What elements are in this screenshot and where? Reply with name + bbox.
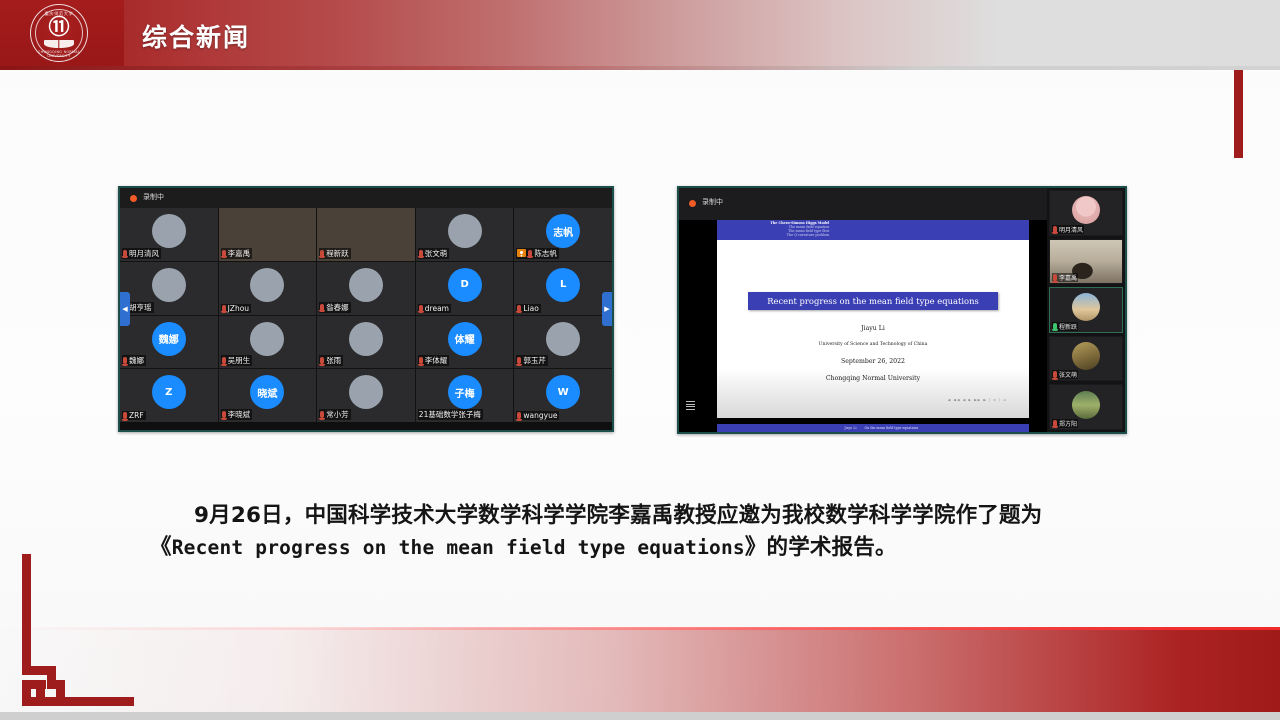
avatar — [250, 322, 284, 356]
slide-header-bar: 重庆师范大学 ⑪ CHONGQING NORMAL UNIVERSITY 综合新… — [0, 0, 1280, 66]
avatar-initials: L — [546, 268, 580, 302]
beamer-footer-title: On the mean field type equations — [861, 426, 1029, 430]
beamer-footer: Jiayu Li On the mean field type equation… — [717, 424, 1029, 432]
avatar-initials: 晓斌 — [250, 375, 284, 409]
caption-text: 9月26日，中国科学技术大学数学科学学院李嘉禹教授应邀为我校数学科学学院作了题为… — [150, 500, 1160, 564]
participant-tile[interactable]: 李嘉禹 — [219, 208, 317, 261]
caption-talk-title: Recent progress on the mean field type e… — [172, 536, 745, 559]
participant-name-text: 胡亨瑶 — [129, 302, 152, 313]
microphone-muted-icon — [222, 305, 226, 312]
beamer-nav-section-3: The Q-curvature problem — [770, 233, 829, 237]
rail-avatar — [1072, 196, 1100, 224]
participant-name-label: JZhou — [221, 304, 251, 313]
participant-name-text: 明月清风 — [129, 248, 159, 259]
rail-participant-tile[interactable]: 郑方阳 — [1049, 384, 1123, 430]
microphone-muted-icon — [517, 412, 521, 419]
participant-rail: 明月清风李嘉禹程新跃张文萌郑方阳 — [1047, 188, 1125, 432]
slide-title: Recent progress on the mean field type e… — [748, 292, 998, 310]
caption-quote-close: 》的学术报告。 — [745, 535, 897, 560]
rail-avatar — [1072, 293, 1100, 321]
participant-name-label: 明月清风 — [122, 248, 161, 259]
beamer-nav-controls[interactable]: ◀ ◀◀ ◀ ▶ ▶▶ ▶ | ≡ | ⌂ — [948, 398, 1007, 402]
microphone-muted-icon — [1053, 226, 1057, 233]
participant-name-text: 吴朋生 — [228, 355, 251, 366]
host-badge-icon — [517, 249, 526, 257]
microphone-muted-icon — [1053, 274, 1057, 281]
caption-line-1: 9月26日，中国科学技术大学数学科学学院李嘉禹教授应邀为我校数学科学学院作了题为 — [150, 500, 1160, 532]
rail-participant-name-label: 张文萌 — [1052, 370, 1078, 379]
participant-name-text: JZhou — [228, 304, 249, 313]
participant-name-text: dream — [425, 304, 449, 313]
participant-name-label: Liao — [516, 304, 540, 313]
participant-tile[interactable]: 胡亨瑶 — [120, 262, 218, 315]
caption-quote-open: 《 — [150, 535, 172, 560]
beamer-nav-sections: The Chern-Simons Higgs Model The mean fi… — [770, 221, 829, 237]
participant-name-label: 李体耀 — [418, 355, 450, 366]
avatar-initials: 体耀 — [448, 322, 482, 356]
rail-participant-name-text: 程新跃 — [1059, 322, 1077, 331]
rail-participant-name-text: 明月清风 — [1059, 225, 1083, 234]
bottom-edge-strip — [0, 712, 1280, 720]
microphone-muted-icon — [419, 250, 423, 257]
microphone-muted-icon — [222, 250, 226, 257]
avatar — [152, 268, 186, 302]
participant-name-text: 21基础数学张子梅 — [419, 409, 481, 420]
slide-date: September 26, 2022 — [717, 358, 1029, 365]
microphone-muted-icon — [222, 411, 226, 418]
slide-venue: Chongqing Normal University — [717, 375, 1029, 382]
participant-tile[interactable]: 子梅21基础数学张子梅 — [416, 369, 514, 422]
slide-author: Jiayu Li — [717, 325, 1029, 332]
bottom-gradient-band — [0, 628, 1280, 712]
participant-name-text: 李嘉禹 — [228, 248, 251, 259]
participant-name-label: dream — [418, 304, 451, 313]
microphone-muted-icon — [517, 357, 521, 364]
gallery-next-icon: ▶ — [604, 305, 609, 313]
participant-name-text: Liao — [523, 304, 538, 313]
participant-tile[interactable]: 晓斌李晓斌 — [219, 369, 317, 422]
university-logo-icon: 重庆师范大学 ⑪ CHONGQING NORMAL UNIVERSITY — [30, 4, 88, 62]
avatar — [250, 268, 284, 302]
participant-tile[interactable]: Wwangyue — [514, 369, 612, 422]
avatar — [546, 322, 580, 356]
header-underline — [0, 66, 1280, 70]
microphone-muted-icon — [123, 412, 127, 419]
presentation-slide: 重庆师范大学 ⑪ CHONGQING NORMAL UNIVERSITY 综合新… — [0, 0, 1280, 720]
caption-line-2: 《Recent progress on the mean field type … — [150, 532, 1160, 564]
participant-name-label: ZRF — [122, 411, 146, 420]
screenshot-screen-share: 录制中 The Chern-Simons Higgs Model The mea… — [677, 186, 1127, 434]
avatar-initials: D — [448, 268, 482, 302]
rail-participant-name-text: 李嘉禹 — [1059, 273, 1077, 282]
rail-participant-name-label: 程新跃 — [1052, 322, 1078, 331]
share-recording-indicator-icon — [689, 200, 696, 207]
participant-name-text: 常小芳 — [326, 409, 349, 420]
microphone-muted-icon — [320, 304, 324, 311]
microphone-muted-icon — [419, 357, 423, 364]
participant-name-label: 张雨 — [319, 355, 343, 366]
page-title: 综合新闻 — [142, 18, 250, 54]
recording-label: 录制中 — [143, 192, 164, 202]
participant-tile[interactable]: 志帆陈志帆 — [514, 208, 612, 261]
zoom-topbar: 录制中 — [120, 188, 612, 208]
participant-name-label: 21基础数学张子梅 — [418, 409, 483, 420]
microphone-active-icon — [1053, 323, 1057, 330]
logo-glyph: ⑪ — [30, 17, 88, 38]
rail-participant-name-label: 明月清风 — [1052, 225, 1084, 234]
participant-name-label: 陈志帆 — [516, 248, 559, 259]
participant-name-text: 李晓斌 — [228, 409, 251, 420]
microphone-muted-icon — [123, 357, 127, 364]
participant-tile[interactable]: 吴朋生 — [219, 316, 317, 369]
microphone-muted-icon — [222, 357, 226, 364]
beamer-navigation-bar: The Chern-Simons Higgs Model The mean fi… — [717, 220, 1029, 240]
rail-avatar — [1072, 391, 1100, 419]
rail-participant-tile[interactable]: 李嘉禹 — [1049, 239, 1123, 285]
rail-participant-name-text: 张文萌 — [1059, 370, 1077, 379]
gallery-prev-icon: ◀ — [122, 305, 127, 313]
microphone-muted-icon — [320, 250, 324, 257]
avatar-initials: Z — [152, 375, 186, 409]
share-recording-label: 录制中 — [702, 197, 723, 207]
participant-tile[interactable]: ZZRF — [120, 369, 218, 422]
participant-name-text: 程新跃 — [326, 248, 349, 259]
participant-tile[interactable]: 郭玉芹 — [514, 316, 612, 369]
screenshot-zoom-gallery: 录制中 明月清风李嘉禹程新跃张文萌志帆陈志帆胡亨瑶JZhou昝春娜DdreamL… — [118, 186, 614, 432]
rail-participant-tile[interactable]: 张文萌 — [1049, 336, 1123, 382]
avatar-initials: 子梅 — [448, 375, 482, 409]
microphone-muted-icon — [419, 305, 423, 312]
rail-participant-name-label: 郑方阳 — [1052, 419, 1078, 428]
avatar — [152, 214, 186, 248]
participant-name-label: 张文萌 — [418, 248, 450, 259]
avatar — [349, 268, 383, 302]
participant-name-text: 陈志帆 — [534, 248, 557, 259]
participant-tile[interactable]: 魏娜魏娜 — [120, 316, 218, 369]
microphone-muted-icon — [123, 250, 127, 257]
participant-name-label: 李晓斌 — [221, 409, 253, 420]
logo-arc-bottom-text: CHONGQING NORMAL UNIVERSITY — [30, 50, 88, 58]
participant-name-text: ZRF — [129, 411, 144, 420]
microphone-muted-icon — [1053, 371, 1057, 378]
participant-name-text: 昝春娜 — [326, 302, 349, 313]
participant-name-text: wangyue — [523, 411, 557, 420]
slide-affiliation: University of Science and Technology of … — [717, 342, 1029, 347]
microphone-muted-icon — [1053, 420, 1057, 427]
participant-name-label: 程新跃 — [319, 248, 351, 259]
beamer-slide-body: Recent progress on the mean field type e… — [717, 240, 1029, 418]
share-menu-icon[interactable] — [686, 401, 695, 410]
gallery-next-button[interactable]: ▶ — [602, 292, 612, 326]
participant-name-label: 魏娜 — [122, 355, 146, 366]
microphone-muted-icon — [528, 250, 532, 257]
microphone-muted-icon — [320, 357, 324, 364]
avatar — [448, 214, 482, 248]
beamer-footer-author: Jiayu Li — [717, 426, 861, 430]
recording-indicator-icon — [130, 195, 137, 202]
rail-participant-tile[interactable]: 明月清风 — [1049, 190, 1123, 236]
participant-name-label: 郭玉芹 — [516, 355, 548, 366]
participant-name-label: wangyue — [516, 411, 559, 420]
avatar — [349, 375, 383, 409]
participant-tile[interactable]: 程新跃 — [317, 208, 415, 261]
avatar — [349, 322, 383, 356]
shared-screen-stage: The Chern-Simons Higgs Model The mean fi… — [679, 220, 1047, 432]
corner-ornament-bottom-left — [14, 554, 140, 706]
participant-name-text: 魏娜 — [129, 355, 144, 366]
avatar-initials: W — [546, 375, 580, 409]
participant-name-label: 李嘉禹 — [221, 248, 253, 259]
participant-name-text: 郭玉芹 — [523, 355, 546, 366]
logo-book-shape — [44, 40, 74, 48]
participant-tile[interactable]: Ddream — [416, 262, 514, 315]
gallery-prev-button[interactable]: ◀ — [120, 292, 130, 326]
bottom-accent-line — [0, 627, 1280, 630]
participant-name-text: 张文萌 — [425, 248, 448, 259]
participant-tile[interactable]: 常小芳 — [317, 369, 415, 422]
avatar-initials: 志帆 — [546, 214, 580, 248]
participant-tile[interactable]: 张文萌 — [416, 208, 514, 261]
participant-grid: 明月清风李嘉禹程新跃张文萌志帆陈志帆胡亨瑶JZhou昝春娜DdreamLLiao… — [120, 208, 612, 422]
avatar-initials: 魏娜 — [152, 322, 186, 356]
participant-tile[interactable]: 体耀李体耀 — [416, 316, 514, 369]
participant-tile[interactable]: 张雨 — [317, 316, 415, 369]
rail-participant-name-text: 郑方阳 — [1059, 419, 1077, 428]
microphone-muted-icon — [320, 411, 324, 418]
participant-name-label: 昝春娜 — [319, 302, 351, 313]
rail-participant-tile[interactable]: 程新跃 — [1049, 287, 1123, 333]
participant-name-text: 李体耀 — [425, 355, 448, 366]
participant-name-label: 吴朋生 — [221, 355, 253, 366]
microphone-muted-icon — [517, 305, 521, 312]
participant-name-text: 张雨 — [326, 355, 341, 366]
participant-name-label: 常小芳 — [319, 409, 351, 420]
participant-tile[interactable]: JZhou — [219, 262, 317, 315]
participant-tile[interactable]: 昝春娜 — [317, 262, 415, 315]
participant-tile[interactable]: LLiao — [514, 262, 612, 315]
rail-avatar — [1072, 342, 1100, 370]
rail-participant-name-label: 李嘉禹 — [1052, 273, 1078, 282]
participant-tile[interactable]: 明月清风 — [120, 208, 218, 261]
